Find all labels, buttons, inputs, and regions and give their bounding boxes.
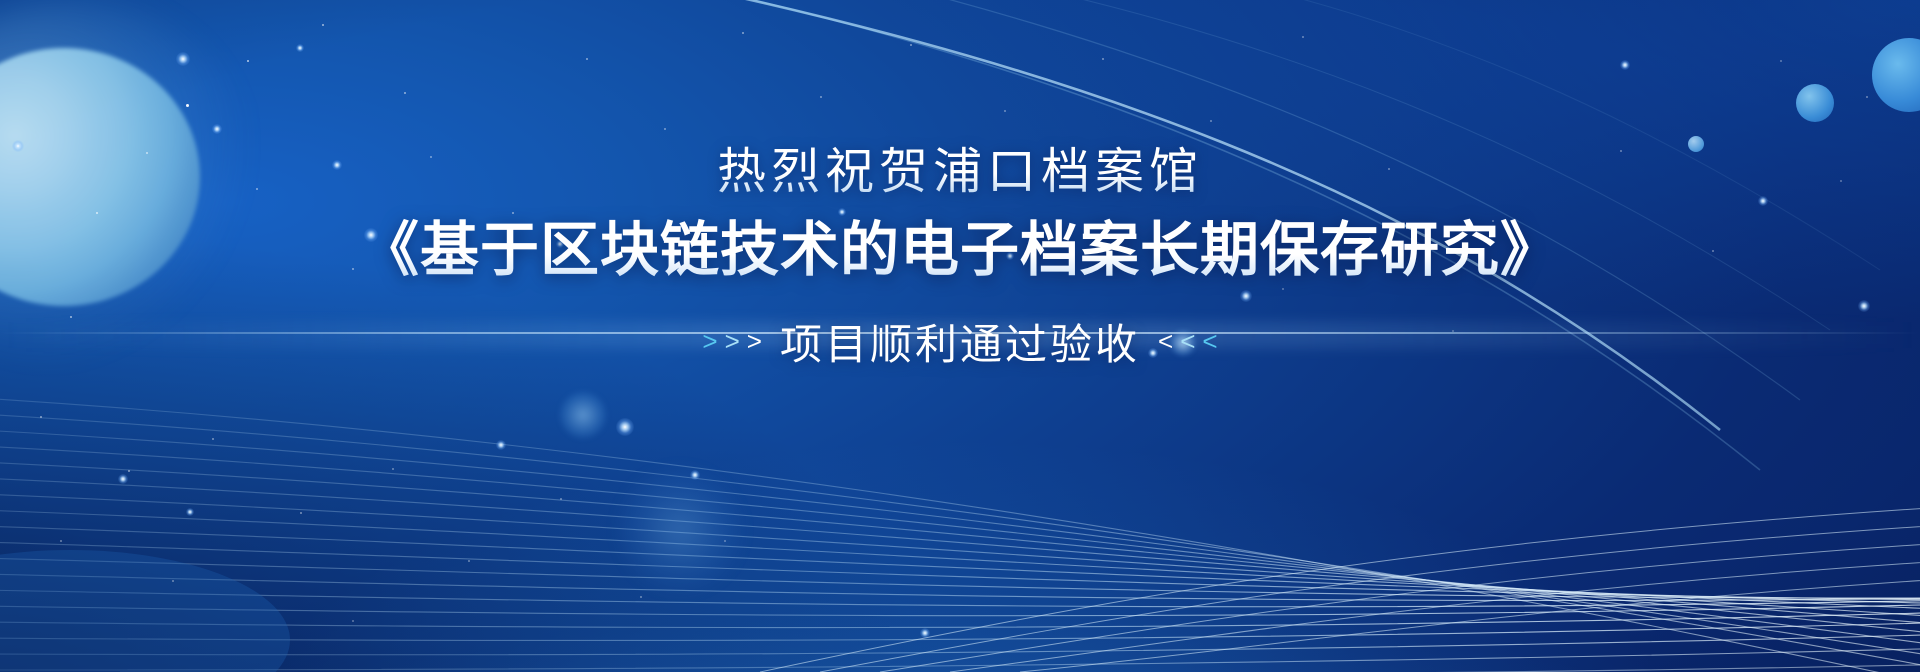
chevron-right-icon-2: > [725, 328, 740, 354]
chevron-left-icon-2: < [1180, 328, 1195, 354]
congratulation-line: 热烈祝贺浦口档案馆 [0, 142, 1920, 203]
orb-glow-bottom-icon [620, 470, 740, 590]
chevron-right-icon-1: > [702, 328, 717, 354]
chevron-left-icon-group: < < < [1158, 328, 1218, 354]
chevron-left-icon-3: < [1202, 328, 1217, 354]
headline-block: 热烈祝贺浦口档案馆 《基于区块链技术的电子档案长期保存研究》 > > > 项目顺… [0, 142, 1920, 372]
status-line: 项目顺利通过验收 [780, 311, 1140, 372]
project-title-line: 《基于区块链技术的电子档案长期保存研究》 [0, 213, 1920, 289]
chevron-left-icon-1: < [1158, 328, 1173, 354]
orb-top-right-icon [1872, 38, 1920, 112]
status-line-wrapper: > > > 项目顺利通过验收 < < < [0, 311, 1920, 372]
orb-small-right-icon [1796, 84, 1834, 122]
orb-glow-center-icon [560, 392, 606, 438]
celebration-banner: 热烈祝贺浦口档案馆 《基于区块链技术的电子档案长期保存研究》 > > > 项目顺… [0, 0, 1920, 672]
chevron-right-icon-group: > > > [702, 328, 762, 354]
chevron-right-icon-3: > [747, 328, 762, 354]
